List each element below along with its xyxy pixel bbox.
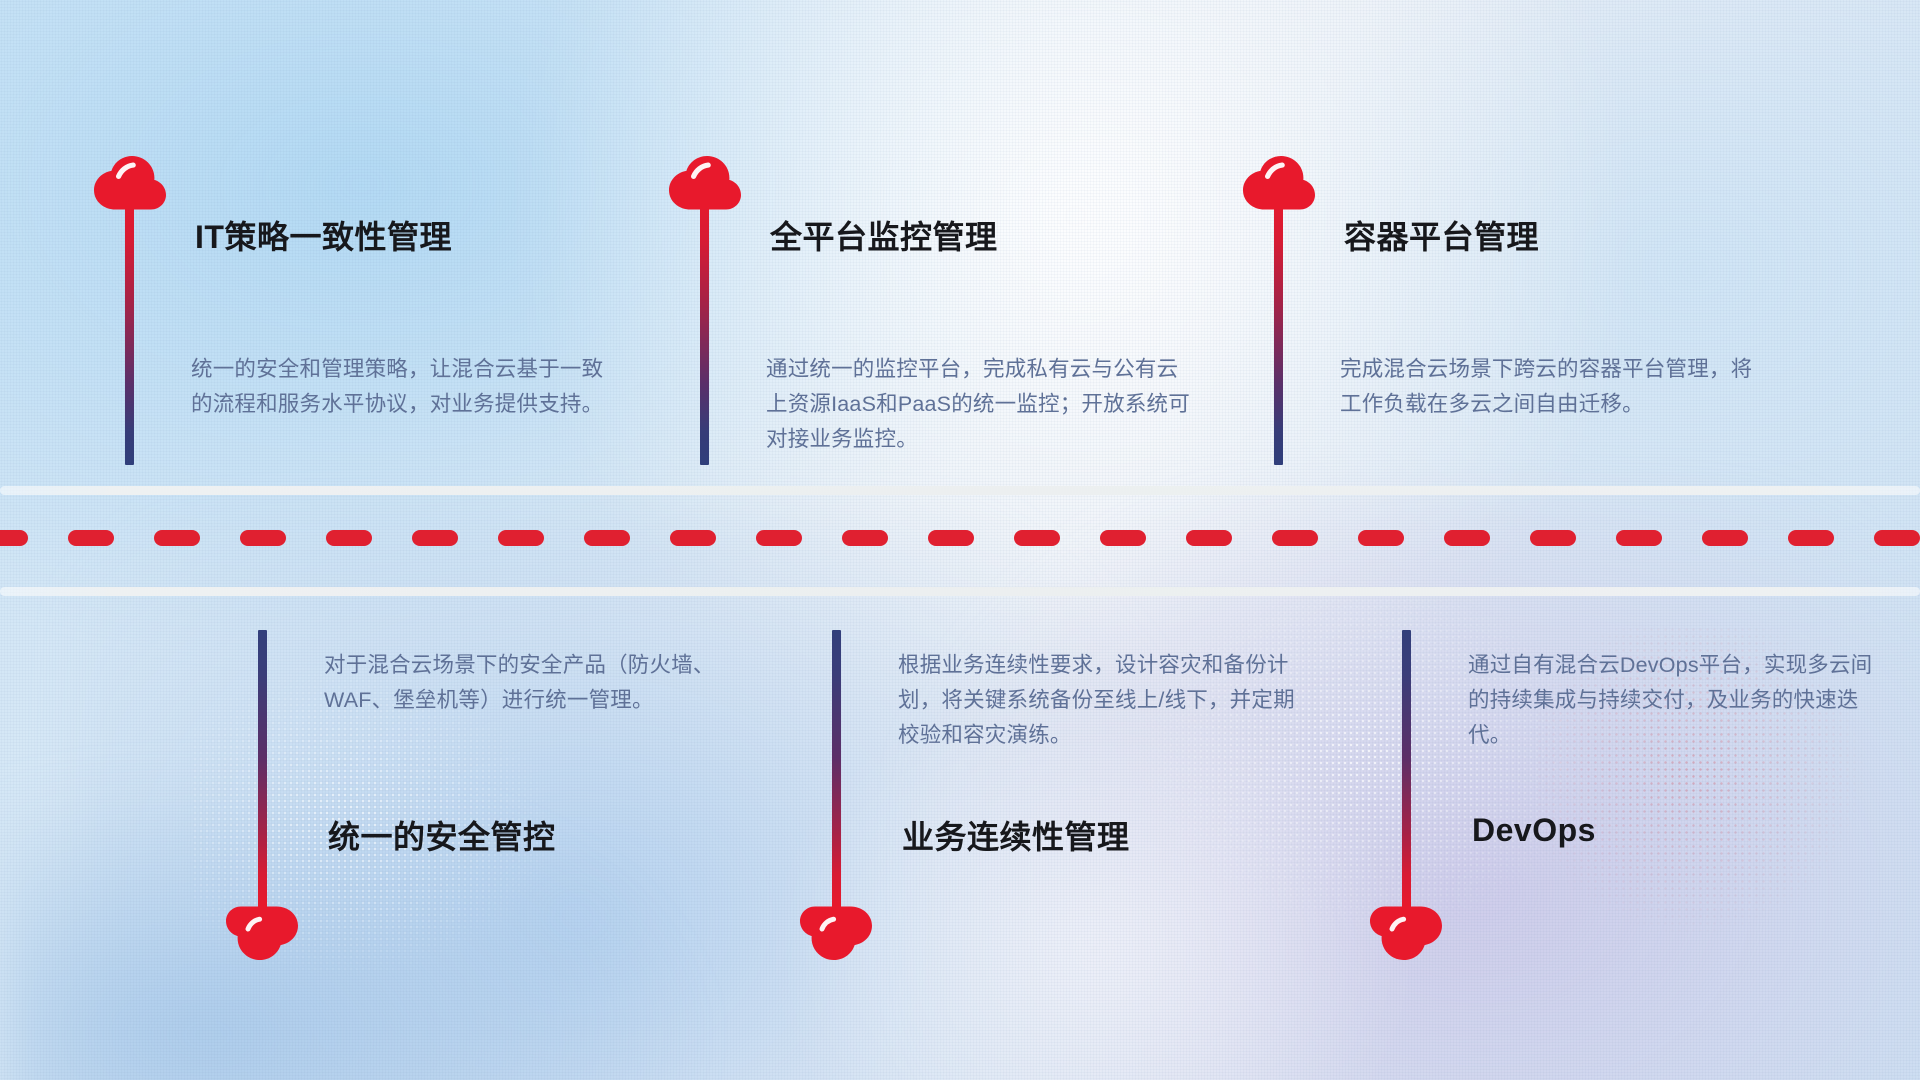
separator-dash — [1788, 530, 1834, 546]
separator-dash — [756, 530, 802, 546]
cloud-icon — [94, 156, 166, 210]
card-description: 通过统一的监控平台，完成私有云与公有云上资源IaaS和PaaS的统一监控；开放系… — [766, 352, 1196, 457]
separator-dash — [1530, 530, 1576, 546]
card-title: 全平台监控管理 — [770, 212, 998, 258]
card-description: 对于混合云场景下的安全产品（防火墙、WAF、堡垒机等）进行统一管理。 — [324, 648, 734, 718]
section-divider — [0, 486, 1920, 596]
separator-dash — [240, 530, 286, 546]
separator-dash — [498, 530, 544, 546]
cloud-icon — [1370, 906, 1442, 960]
separator-dash — [0, 530, 28, 546]
card-description: 统一的安全和管理策略，让混合云基于一致的流程和服务水平协议，对业务提供支持。 — [191, 352, 621, 422]
red-dashed-separator — [0, 530, 1920, 546]
cloud-icon — [1243, 156, 1315, 210]
separator-dash — [1272, 530, 1318, 546]
card-title: IT策略一致性管理 — [195, 212, 452, 258]
divider-rule-top — [0, 486, 1920, 495]
separator-dash — [1100, 530, 1146, 546]
card-title: 业务连续性管理 — [902, 812, 1130, 858]
infographic-stage: IT策略一致性管理 统一的安全和管理策略，让混合云基于一致的流程和服务水平协议，… — [0, 0, 1920, 1080]
card-title: 统一的安全管控 — [328, 812, 556, 858]
card-description: 通过自有混合云DevOps平台，实现多云间的持续集成与持续交付，及业务的快速迭代… — [1468, 648, 1878, 753]
cloud-icon — [669, 156, 741, 210]
cloud-icon — [800, 906, 872, 960]
separator-dash — [1358, 530, 1404, 546]
divider-rule-bottom — [0, 587, 1920, 596]
separator-dash — [1014, 530, 1060, 546]
connector-line — [832, 630, 841, 908]
separator-dash — [1874, 530, 1920, 546]
separator-dash — [928, 530, 974, 546]
card-description: 根据业务连续性要求，设计容灾和备份计划，将关键系统备份至线上/线下，并定期校验和… — [898, 648, 1308, 753]
cloud-icon — [226, 906, 298, 960]
separator-dash — [1186, 530, 1232, 546]
separator-dash — [842, 530, 888, 546]
separator-dash — [1702, 530, 1748, 546]
separator-dash — [154, 530, 200, 546]
separator-dash — [584, 530, 630, 546]
card-description: 完成混合云场景下跨云的容器平台管理，将工作负载在多云之间自由迁移。 — [1340, 352, 1770, 422]
connector-line — [700, 190, 709, 465]
separator-dash — [68, 530, 114, 546]
separator-dash — [1444, 530, 1490, 546]
separator-dash — [326, 530, 372, 546]
separator-dash — [1616, 530, 1662, 546]
separator-dash — [670, 530, 716, 546]
connector-line — [258, 630, 267, 908]
connector-line — [1274, 190, 1283, 465]
connector-line — [1402, 630, 1411, 908]
card-title: 容器平台管理 — [1344, 212, 1539, 258]
card-title: DevOps — [1472, 812, 1596, 849]
separator-dash — [412, 530, 458, 546]
connector-line — [125, 190, 134, 465]
